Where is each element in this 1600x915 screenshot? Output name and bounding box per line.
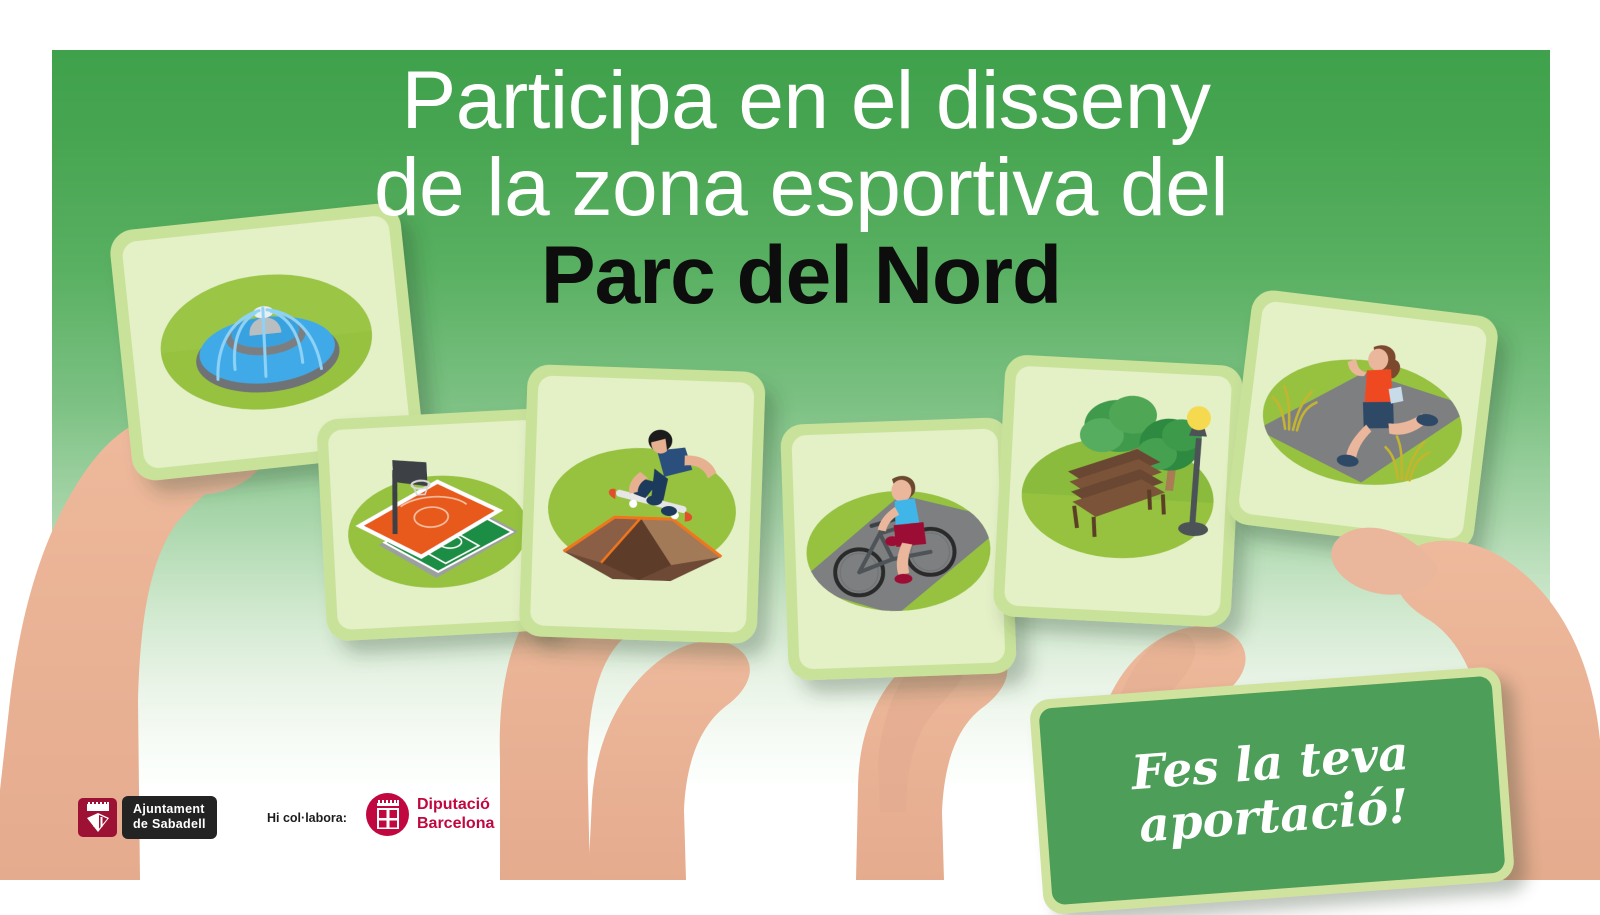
card-running-track[interactable] xyxy=(1225,288,1500,552)
ajuntament-wordmark: Ajuntament de Sabadell xyxy=(122,796,217,839)
ajuntament-de-sabadell-logo[interactable]: Ajuntament de Sabadell xyxy=(78,796,217,839)
diputacio-barcelona-logo[interactable]: Diputació Barcelona xyxy=(366,793,494,836)
collaborates-label: Hi col·labora: xyxy=(267,811,347,825)
diputacio-crest-icon xyxy=(366,793,409,836)
sabadell-crest-icon xyxy=(78,798,117,837)
card-benches-trees[interactable] xyxy=(992,354,1243,628)
card-skatepark[interactable] xyxy=(519,364,766,644)
diputacio-wordmark: Diputació Barcelona xyxy=(417,796,494,833)
card-bike-path[interactable] xyxy=(780,417,1017,681)
footer-logos: Ajuntament de Sabadell Hi col·labora: xyxy=(0,790,1600,860)
poster-canvas: Participa en el disseny de la zona espor… xyxy=(0,0,1600,900)
